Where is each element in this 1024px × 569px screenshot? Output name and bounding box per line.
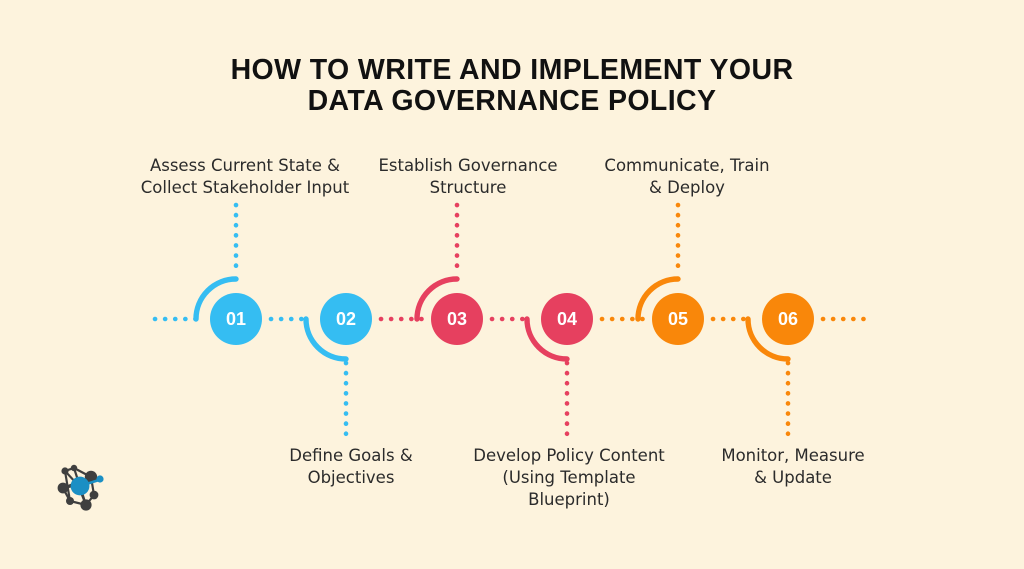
step-label-3-line-2: Structure (352, 177, 584, 199)
step-label-1: Assess Current State & Collect Stakehold… (104, 155, 386, 199)
step-label-4: Develop Policy Content (Using Template B… (448, 445, 690, 511)
timeline-node-04 (541, 293, 593, 345)
step-label-2-line-1: Define Goals & (250, 445, 452, 467)
timeline-node-01 (210, 293, 262, 345)
timeline-node-05 (652, 293, 704, 345)
step-label-5-line-1: Communicate, Train (576, 155, 798, 177)
step-label-3: Establish Governance Structure (352, 155, 584, 199)
network-nodes-logo (50, 455, 114, 519)
timeline-node-02 (320, 293, 372, 345)
step-label-4-line-2: (Using Template (448, 467, 690, 489)
step-label-4-line-1: Develop Policy Content (448, 445, 690, 467)
step-label-5-line-2: & Deploy (576, 177, 798, 199)
timeline-node-06 (762, 293, 814, 345)
step-label-6-line-1: Monitor, Measure (692, 445, 894, 467)
step-label-3-line-1: Establish Governance (352, 155, 584, 177)
step-label-5: Communicate, Train & Deploy (576, 155, 798, 199)
step-label-4-line-3: Blueprint) (448, 489, 690, 511)
infographic-canvas: HOW TO WRITE AND IMPLEMENT YOUR DATA GOV… (0, 0, 1024, 569)
step-label-2-line-2: Objectives (250, 467, 452, 489)
step-label-6: Monitor, Measure & Update (692, 445, 894, 489)
step-label-1-line-2: Collect Stakeholder Input (104, 177, 386, 199)
logo-accent-satellite (96, 475, 103, 482)
step-label-6-line-2: & Update (692, 467, 894, 489)
step-label-2: Define Goals & Objectives (250, 445, 452, 489)
logo-accent-core (71, 477, 90, 496)
timeline-node-03 (431, 293, 483, 345)
step-label-1-line-1: Assess Current State & (104, 155, 386, 177)
